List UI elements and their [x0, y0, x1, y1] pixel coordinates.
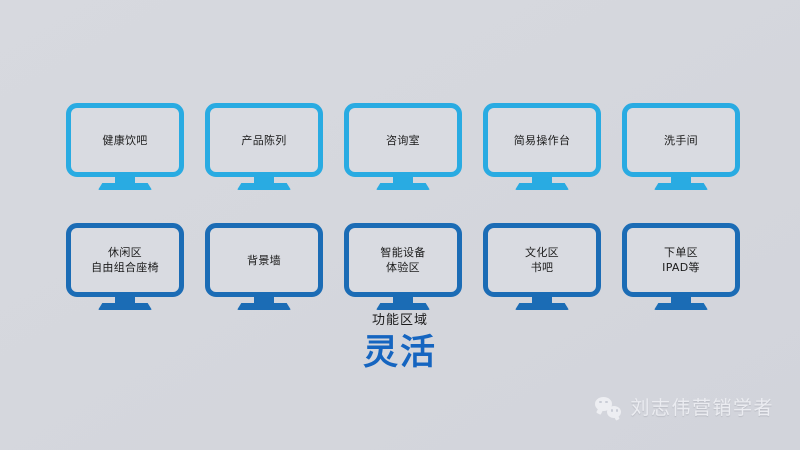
monitor-stand	[205, 297, 323, 310]
monitor-card[interactable]: 休闲区 自由组合座椅	[66, 223, 184, 310]
monitor-screen[interactable]: 休闲区 自由组合座椅	[66, 223, 184, 297]
monitor-card[interactable]: 背景墙	[205, 223, 323, 310]
watermark: 刘志伟营销学者	[595, 393, 774, 420]
monitor-card[interactable]: 洗手间	[622, 103, 740, 190]
caption-block: 功能区域 灵活	[0, 312, 800, 373]
monitor-stand-neck	[115, 297, 135, 304]
monitor-label: 咨询室	[383, 133, 423, 148]
monitor-stand	[66, 177, 184, 190]
monitor-stand-base	[515, 183, 569, 190]
monitor-card[interactable]: 产品陈列	[205, 103, 323, 190]
monitor-label: 洗手间	[661, 133, 701, 148]
monitor-stand	[622, 177, 740, 190]
monitor-card[interactable]: 咨询室	[344, 103, 462, 190]
monitor-screen[interactable]: 简易操作台	[483, 103, 601, 177]
monitor-stand-neck	[393, 177, 413, 184]
monitor-stand-base	[515, 303, 569, 310]
monitor-stand-base	[654, 183, 708, 190]
monitor-stand-base	[98, 303, 152, 310]
monitor-stand-neck	[532, 177, 552, 184]
monitor-stand-base	[237, 303, 291, 310]
monitor-screen[interactable]: 文化区 书吧	[483, 223, 601, 297]
monitor-row-dark-blue: 休闲区 自由组合座椅 背景墙 智能设备 体验区	[66, 223, 740, 310]
monitor-stand	[622, 297, 740, 310]
monitor-label: 产品陈列	[238, 133, 289, 148]
monitor-stand-base	[376, 303, 430, 310]
monitor-stand-neck	[254, 297, 274, 304]
monitor-screen[interactable]: 背景墙	[205, 223, 323, 297]
monitor-stand	[344, 177, 462, 190]
monitor-stand-neck	[254, 177, 274, 184]
monitor-stand	[483, 297, 601, 310]
monitor-screen[interactable]: 产品陈列	[205, 103, 323, 177]
monitor-stand-neck	[671, 297, 691, 304]
monitor-label: 智能设备 体验区	[377, 245, 428, 275]
monitor-stand-neck	[671, 177, 691, 184]
monitor-screen[interactable]: 智能设备 体验区	[344, 223, 462, 297]
monitor-label: 文化区 书吧	[522, 245, 562, 275]
monitor-card[interactable]: 健康饮吧	[66, 103, 184, 190]
monitor-stand-neck	[393, 297, 413, 304]
monitor-card[interactable]: 简易操作台	[483, 103, 601, 190]
monitor-stand-base	[237, 183, 291, 190]
monitor-screen[interactable]: 洗手间	[622, 103, 740, 177]
caption-subtitle: 功能区域	[0, 312, 800, 330]
monitor-stand	[66, 297, 184, 310]
monitor-stand-neck	[532, 297, 552, 304]
monitor-card[interactable]: 文化区 书吧	[483, 223, 601, 310]
monitor-stand-base	[376, 183, 430, 190]
monitor-stand-base	[654, 303, 708, 310]
monitor-stand-base	[98, 183, 152, 190]
monitor-screen[interactable]: 咨询室	[344, 103, 462, 177]
monitor-screen[interactable]: 健康饮吧	[66, 103, 184, 177]
monitor-label: 健康饮吧	[99, 133, 150, 148]
page-title: 灵活	[0, 333, 800, 373]
monitor-stand	[205, 177, 323, 190]
monitor-stand-neck	[115, 177, 135, 184]
monitor-screen[interactable]: 下单区 IPAD等	[622, 223, 740, 297]
slide-canvas: 健康饮吧 产品陈列 咨询室	[0, 0, 800, 450]
monitor-grid: 健康饮吧 产品陈列 咨询室	[66, 103, 740, 310]
monitor-label: 背景墙	[244, 253, 284, 268]
monitor-card[interactable]: 智能设备 体验区	[344, 223, 462, 310]
monitor-stand	[344, 297, 462, 310]
monitor-label: 简易操作台	[511, 133, 574, 148]
monitor-card[interactable]: 下单区 IPAD等	[622, 223, 740, 310]
monitor-label: 休闲区 自由组合座椅	[88, 245, 162, 275]
watermark-text: 刘志伟营销学者	[630, 393, 774, 420]
monitor-stand	[483, 177, 601, 190]
monitor-label: 下单区 IPAD等	[659, 245, 703, 275]
wechat-icon	[595, 396, 621, 418]
monitor-row-light-blue: 健康饮吧 产品陈列 咨询室	[66, 103, 740, 190]
